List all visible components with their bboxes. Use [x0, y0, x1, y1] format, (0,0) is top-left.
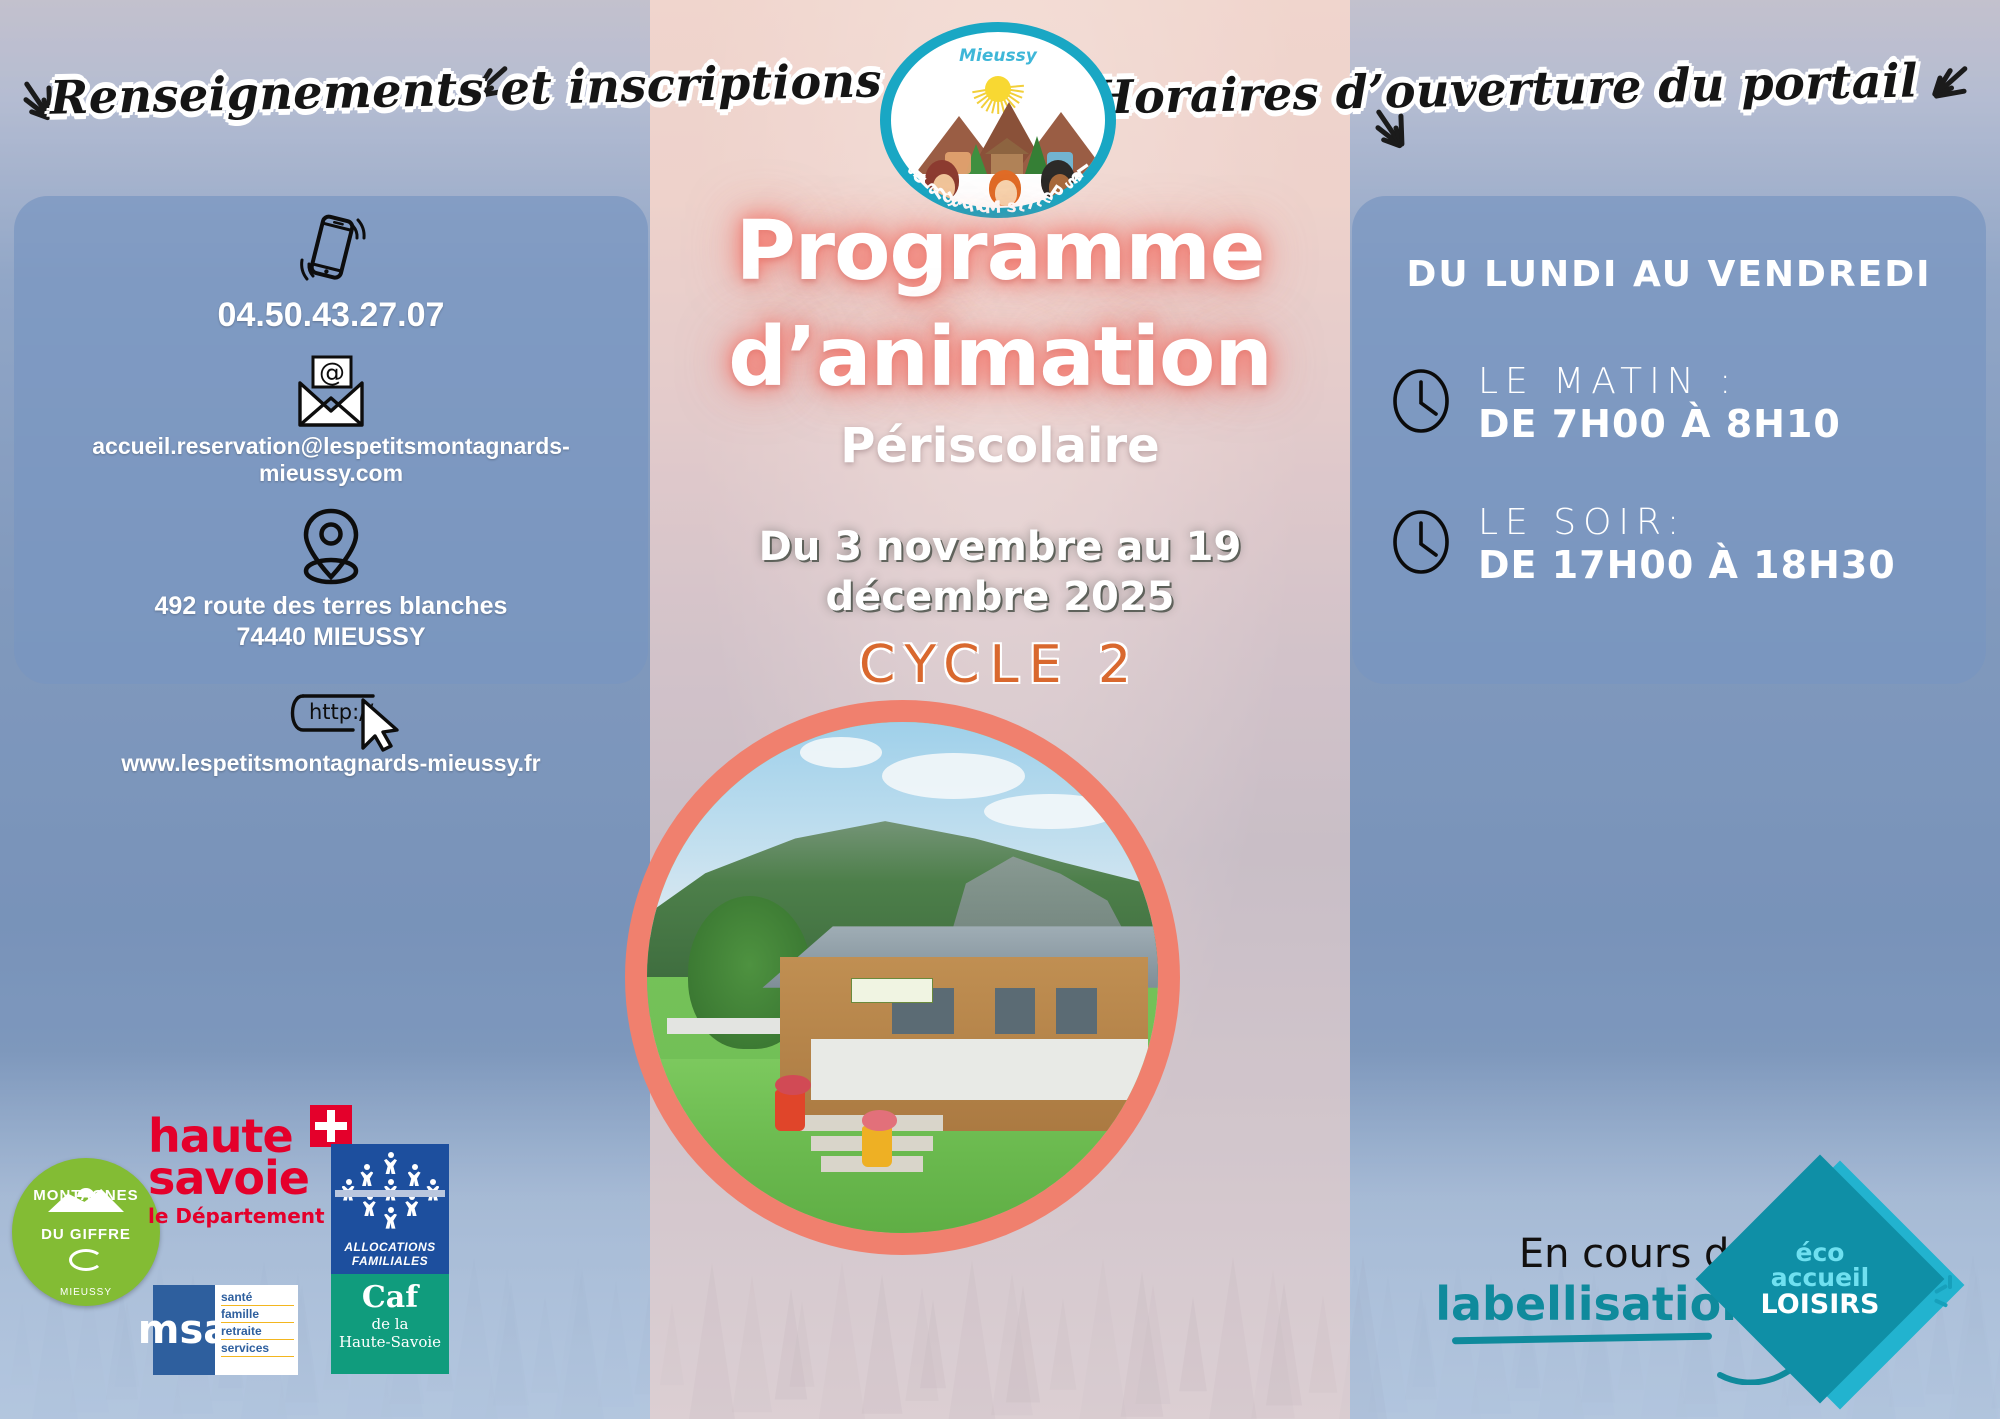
caf-bottom-line-2: de la	[331, 1315, 449, 1333]
eco-badge-line-1: éco	[1796, 1240, 1845, 1266]
phone-number[interactable]: 04.50.43.27.07	[14, 296, 648, 335]
schedule-label-evening: LE SOIR:	[1478, 502, 1896, 543]
address-line-1: 492 route des terres blanches	[14, 591, 648, 622]
schedule-time-morning: DE 7H00 À 8H10	[1478, 402, 1841, 446]
giffre-line-2: DU GIFFRE	[41, 1227, 131, 1244]
sparkle-icon	[1934, 1275, 1966, 1315]
cycle-label: CYCLE 2	[650, 635, 1350, 695]
haute-savoie-line-2: savoie	[148, 1157, 328, 1199]
eco-badge-line-2: accueil	[1771, 1265, 1869, 1291]
msa-word-2: famille	[221, 1306, 294, 1323]
caf-top-line-1: ALLOCATIONS	[344, 1240, 435, 1254]
eco-label-block: En cours de labellisation éco accueil LO…	[1424, 1183, 1984, 1393]
schedule-slot-evening: LE SOIR: DE 17H00 À 18H30	[1390, 502, 1986, 587]
schedule-label-morning: LE MATIN :	[1478, 361, 1841, 402]
partner-logo-haute-savoie: haute savoie le Département	[148, 1115, 328, 1228]
url-bar-cursor-icon: http://	[14, 670, 648, 752]
partner-logo-msa: msa santé famille retraite services	[153, 1285, 298, 1375]
svg-text:@: @	[319, 358, 345, 388]
giffre-line-3: MIEUSSY	[60, 1287, 112, 1298]
building-photo	[625, 700, 1180, 1255]
main-title-line-1: Programme	[650, 212, 1350, 292]
caf-top-line-2: FAMILIALES	[352, 1254, 428, 1268]
schedule-days: DU LUNDI AU VENDREDI	[1352, 254, 1986, 295]
haute-savoie-line-1: haute	[148, 1115, 328, 1157]
partner-logo-caf: ALLOCATIONS FAMILIALES Caf de la Haute-S…	[331, 1144, 449, 1374]
email-address[interactable]: accueil.reservation@lespetitsmontagnards…	[14, 433, 648, 487]
msa-word-3: retraite	[221, 1323, 294, 1340]
msa-word-4: services	[221, 1340, 294, 1357]
caf-bottom-line-3: Haute-Savoie	[331, 1333, 449, 1351]
map-pin-icon	[14, 505, 648, 589]
eco-badge-line-3: LOISIRS	[1761, 1291, 1880, 1319]
caf-bottom-line-1: Caf	[331, 1280, 449, 1315]
haute-savoie-line-3: le Département	[148, 1204, 328, 1228]
contact-card: 04.50.43.27.07 @ accueil.reservation@les…	[14, 196, 648, 684]
date-line-2: décembre 2025	[650, 570, 1350, 624]
date-line-1: Du 3 novembre au 19	[650, 520, 1350, 574]
envelope-at-icon: @	[14, 353, 648, 431]
clock-icon	[1390, 366, 1452, 441]
logo-top-text: Mieussy	[891, 46, 1105, 66]
website-url[interactable]: www.lespetitsmontagnards-mieussy.fr	[14, 750, 648, 777]
mobile-phone-icon	[14, 208, 648, 294]
opening-hours-card: DU LUNDI AU VENDREDI LE MATIN : DE 7H00 …	[1352, 196, 1986, 684]
subtitle: Périscolaire	[650, 418, 1350, 474]
savoie-cross-icon	[310, 1105, 352, 1147]
address-line-2: 74440 MIEUSSY	[14, 622, 648, 653]
main-title-line-2: d’animation	[650, 318, 1350, 398]
partner-logo-montagnes-du-giffre: MONTAGNES DU GIFFRE MIEUSSY	[12, 1158, 160, 1306]
schedule-slot-morning: LE MATIN : DE 7H00 À 8H10	[1390, 361, 1986, 446]
msa-mark: msa	[153, 1285, 215, 1375]
msa-word-1: santé	[221, 1289, 294, 1306]
association-logo: Mieussy Les Petits Montagnards	[880, 22, 1116, 218]
clock-icon	[1390, 507, 1452, 582]
schedule-time-evening: DE 17H00 À 18H30	[1478, 543, 1896, 587]
